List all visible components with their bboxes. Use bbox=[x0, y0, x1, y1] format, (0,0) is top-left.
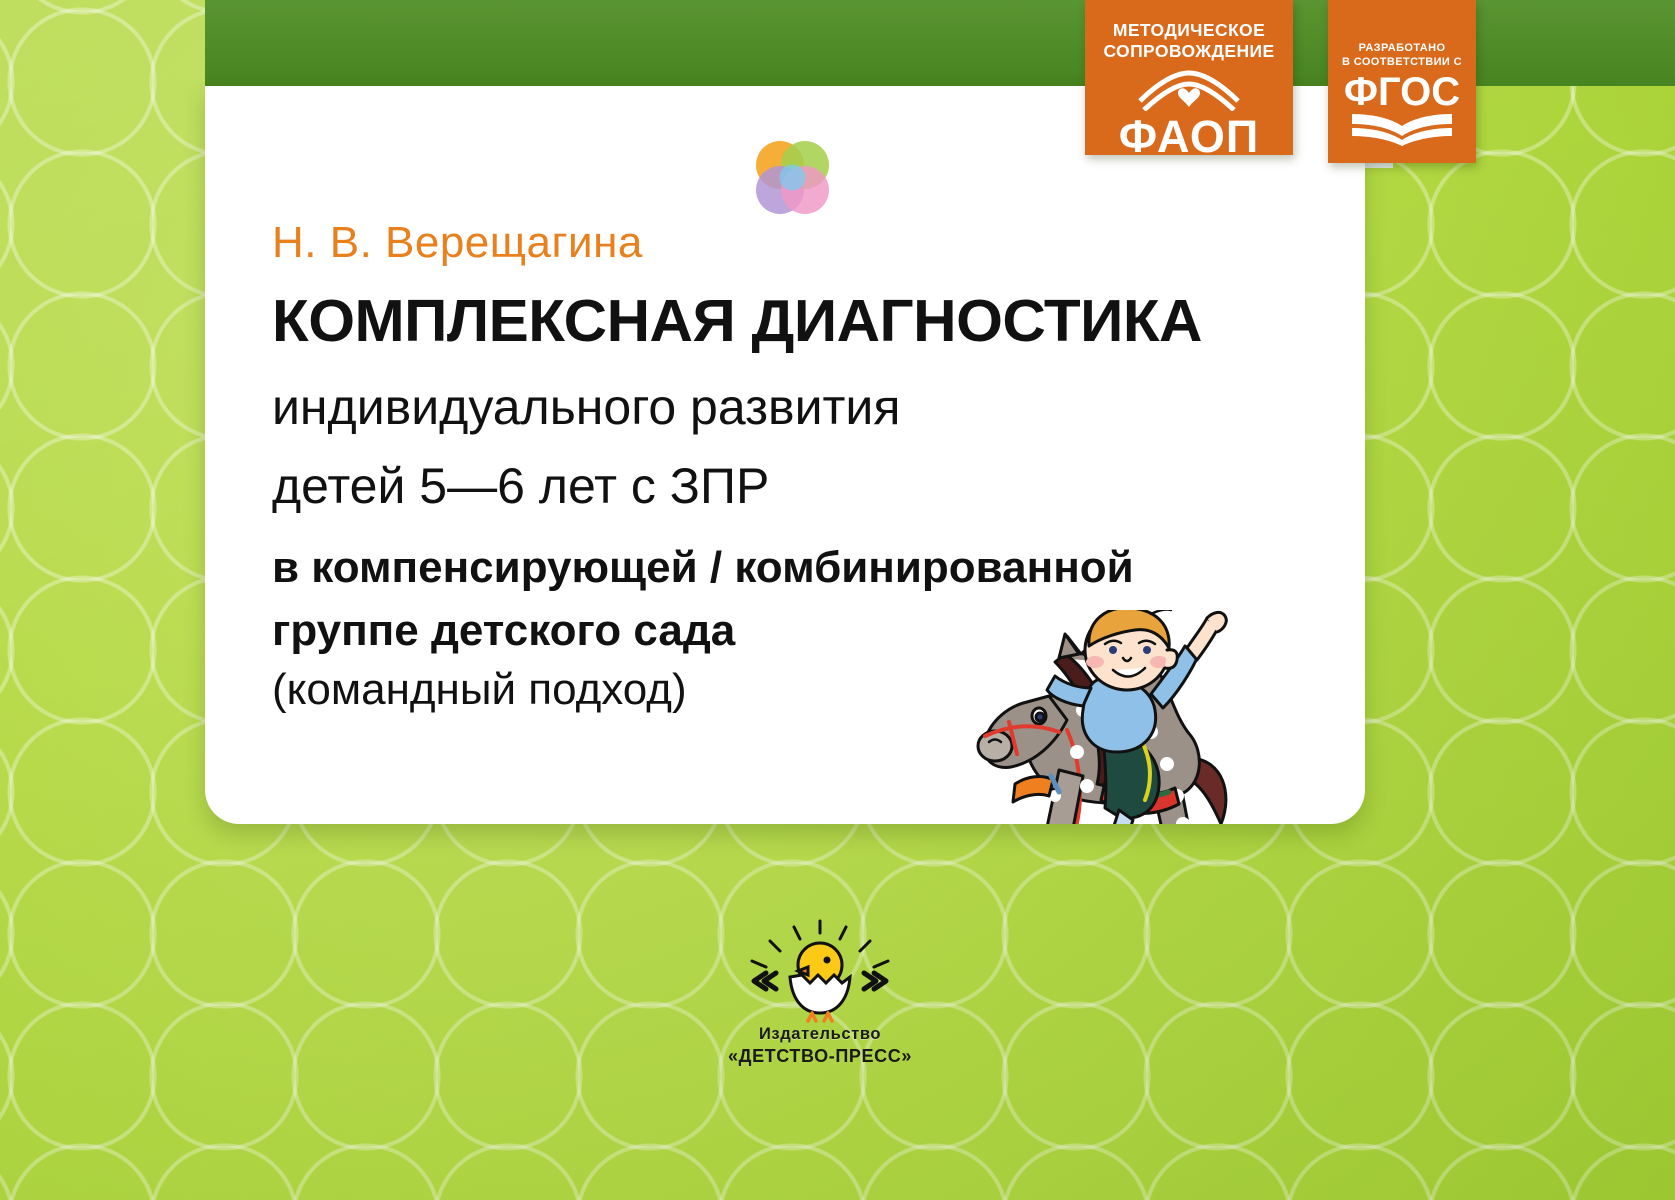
book-cover: Н. В. Верещагина КОМПЛЕКСНАЯ ДИАГНОСТИКА… bbox=[0, 0, 1675, 1200]
badge-fgos-line2: В СООТВЕТСТВИИ С bbox=[1328, 56, 1476, 70]
badge-fgos-line1: РАЗРАБОТАНО bbox=[1328, 42, 1476, 56]
badge-faop-mark: ФАОП bbox=[1085, 114, 1293, 159]
badge-faop-line1: МЕТОДИЧЕСКОЕ bbox=[1085, 20, 1293, 41]
badge-faop-text: МЕТОДИЧЕСКОЕ СОПРОВОЖДЕНИЕ bbox=[1085, 0, 1293, 63]
book-subtitle-line-3: в компенсирующей / комбинированной bbox=[272, 543, 1134, 593]
book-title-main: КОМПЛЕКСНАЯ ДИАГНОСТИКА bbox=[272, 287, 1202, 355]
boy-on-rocking-horse-illustration bbox=[955, 610, 1365, 824]
arch-heart-icon bbox=[1134, 67, 1244, 111]
badge-faop: МЕТОДИЧЕСКОЕ СОПРОВОЖДЕНИЕ ФАОП bbox=[1085, 0, 1293, 155]
book-subtitle-line-1: индивидуального развития bbox=[272, 378, 900, 436]
author-name: Н. В. Верещагина bbox=[272, 218, 643, 268]
badge-fgos-text: РАЗРАБОТАНО В СООТВЕТСТВИИ С bbox=[1328, 0, 1476, 70]
publisher-block: Издательство «ДЕТСТВО-ПРЕСС» bbox=[700, 915, 940, 1069]
publisher-name: «ДЕТСТВО-ПРЕСС» bbox=[700, 1045, 940, 1068]
book-subtitle-line-5: (командный подход) bbox=[272, 665, 687, 715]
book-subtitle-line-2: детей 5—6 лет с ЗПР bbox=[272, 457, 769, 515]
badge-fgos: РАЗРАБОТАНО В СООТВЕТСТВИИ С ФГОС bbox=[1328, 0, 1476, 163]
badge-faop-line2: СОПРОВОЖДЕНИЕ bbox=[1085, 41, 1293, 62]
badge-fgos-mark: ФГОС bbox=[1328, 72, 1476, 112]
chick-in-egg-logo bbox=[720, 915, 920, 1023]
open-book-icon bbox=[1350, 112, 1454, 146]
four-circles-logo bbox=[753, 140, 831, 216]
book-subtitle-line-4: группе детского сада bbox=[272, 606, 735, 656]
publisher-label: Издательство bbox=[700, 1023, 940, 1045]
